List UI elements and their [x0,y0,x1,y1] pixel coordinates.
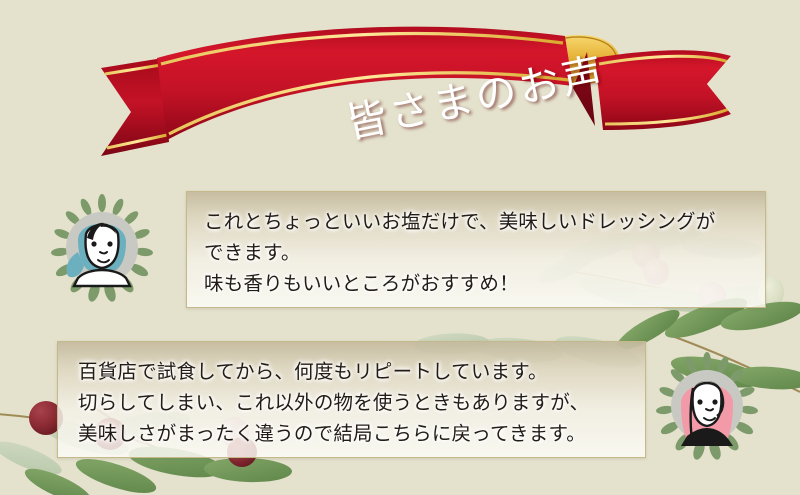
testimonials-page: 皆さまのお声 [0,0,800,495]
testimonial-text-1: これとちょっといいお塩だけで、美味しいドレッシングが できます。 味も香りもいい… [187,192,765,300]
avatar-woman-pink-hair [653,352,761,460]
testimonial-text-2: 百貨店で試食してから、何度もリピートしています。 切らしてしまい、これ以外の物を… [58,342,645,450]
ribbon-banner: 皆さまのお声 [95,22,735,172]
ribbon-banner-graphic [95,22,735,172]
testimonial-box-2: 百貨店で試食してから、何度もリピートしています。 切らしてしまい、これ以外の物を… [57,341,646,458]
avatar-woman-teal-hair [48,194,156,302]
avatar-face [681,381,733,446]
testimonial-box-1: これとちょっといいお塩だけで、美味しいドレッシングが できます。 味も香りもいい… [186,191,766,308]
